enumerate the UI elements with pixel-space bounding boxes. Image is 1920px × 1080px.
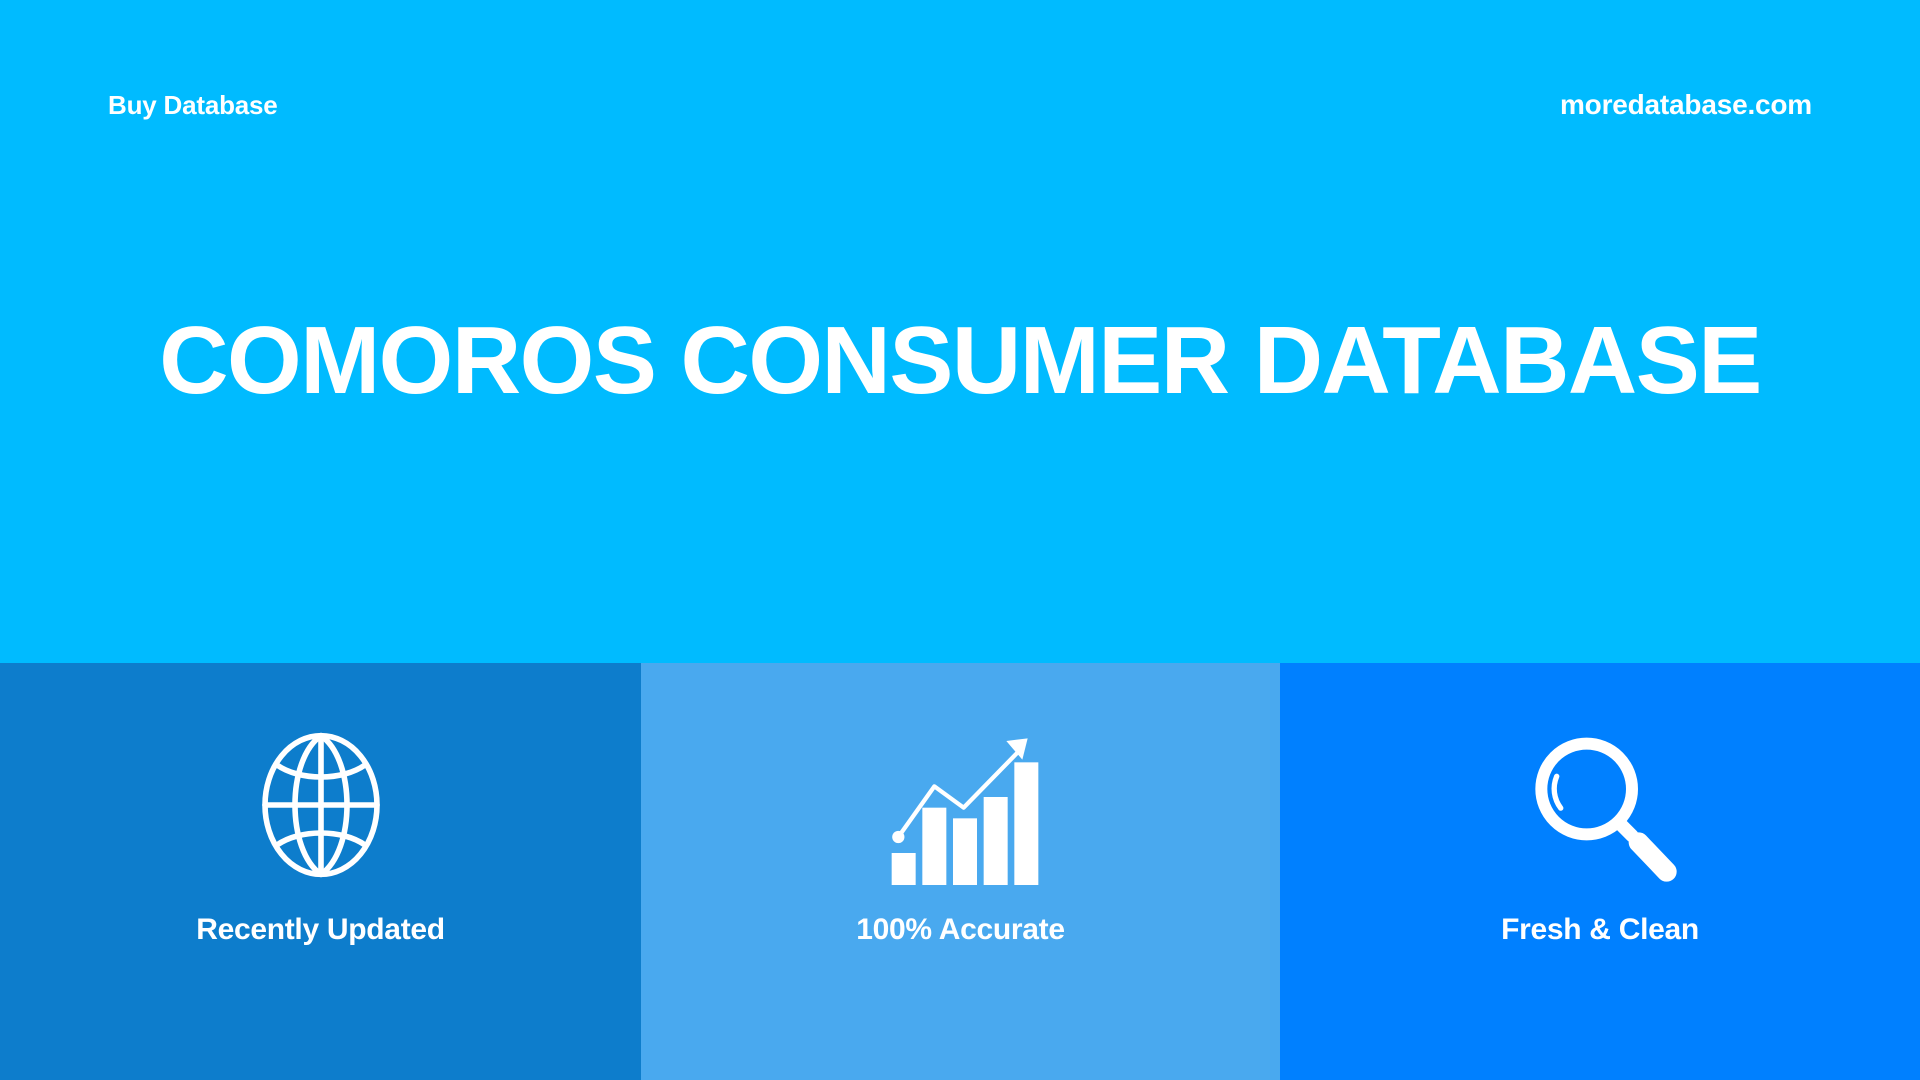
site-url-label[interactable]: moredatabase.com (1560, 89, 1812, 121)
page-title: COMOROS CONSUMER DATABASE (120, 300, 1800, 423)
hero-section: Buy Database moredatabase.com COMOROS CO… (0, 0, 1920, 663)
page-title-line-1: COMOROS CONSUMER (159, 307, 1228, 414)
feature-card-fresh-clean[interactable]: Fresh & Clean (1280, 663, 1920, 1080)
feature-strip: Recently Updated (0, 663, 1920, 1080)
promo-banner: Buy Database moredatabase.com COMOROS CO… (0, 0, 1920, 1080)
growth-chart-icon (881, 725, 1041, 885)
hero-title-wrap: COMOROS CONSUMER DATABASE (0, 300, 1920, 423)
brand-label[interactable]: Buy Database (108, 90, 278, 121)
feature-label-recently-updated: Recently Updated (196, 913, 445, 947)
magnifier-icon (1520, 725, 1680, 885)
feature-card-accurate[interactable]: 100% Accurate (641, 663, 1280, 1080)
feature-label-accurate: 100% Accurate (856, 913, 1064, 947)
top-bar: Buy Database moredatabase.com (0, 0, 1920, 210)
feature-label-fresh-clean: Fresh & Clean (1501, 913, 1699, 947)
feature-card-recently-updated[interactable]: Recently Updated (0, 663, 641, 1080)
globe-icon (241, 725, 401, 885)
page-title-line-2: DATABASE (1254, 307, 1761, 414)
